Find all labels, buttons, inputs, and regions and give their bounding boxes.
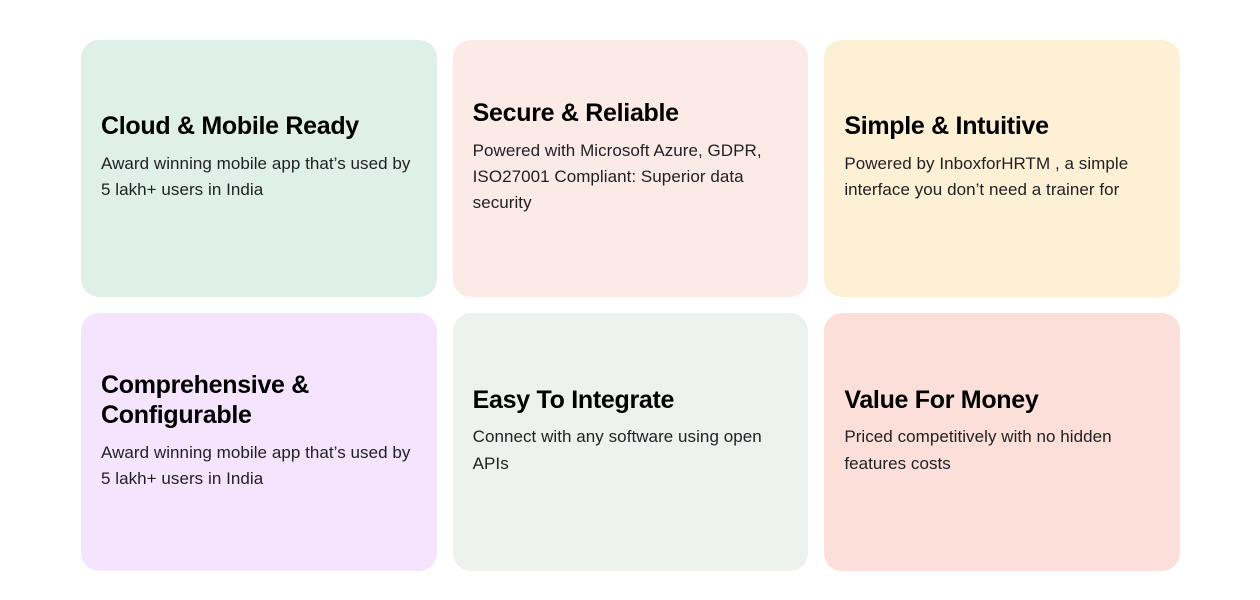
card-title: Easy To Integrate xyxy=(473,385,787,416)
feature-card-simple-intuitive: Simple & Intuitive Powered by InboxforHR… xyxy=(824,40,1180,297)
card-title: Simple & Intuitive xyxy=(844,111,1158,142)
card-content: Simple & Intuitive Powered by InboxforHR… xyxy=(844,111,1158,203)
card-title: Secure & Reliable xyxy=(473,98,787,129)
card-content: Cloud & Mobile Ready Award winning mobil… xyxy=(101,111,415,203)
feature-card-easy-to-integrate: Easy To Integrate Connect with any softw… xyxy=(453,313,809,571)
card-title: Value For Money xyxy=(844,385,1158,416)
card-content: Value For Money Priced competitively wit… xyxy=(844,385,1158,477)
card-description: Award winning mobile app that’s used by … xyxy=(101,151,415,204)
feature-card-grid: Cloud & Mobile Ready Award winning mobil… xyxy=(81,40,1180,571)
card-title: Cloud & Mobile Ready xyxy=(101,111,415,142)
feature-card-value-for-money: Value For Money Priced competitively wit… xyxy=(824,313,1180,571)
card-description: Award winning mobile app that’s used by … xyxy=(101,440,415,493)
feature-card-secure-reliable: Secure & Reliable Powered with Microsoft… xyxy=(453,40,809,297)
feature-card-comprehensive-configurable: Comprehensive & Configurable Award winni… xyxy=(81,313,437,571)
card-description: Powered by InboxforHRTM , a simple inter… xyxy=(844,151,1158,204)
feature-card-cloud-mobile-ready: Cloud & Mobile Ready Award winning mobil… xyxy=(81,40,437,297)
card-description: Connect with any software using open API… xyxy=(473,424,787,477)
card-content: Easy To Integrate Connect with any softw… xyxy=(473,385,787,477)
card-content: Comprehensive & Configurable Award winni… xyxy=(101,370,415,493)
card-content: Secure & Reliable Powered with Microsoft… xyxy=(473,98,787,217)
card-description: Powered with Microsoft Azure, GDPR, ISO2… xyxy=(473,138,787,217)
card-description: Priced competitively with no hidden feat… xyxy=(844,424,1158,477)
card-title: Comprehensive & Configurable xyxy=(101,370,415,431)
